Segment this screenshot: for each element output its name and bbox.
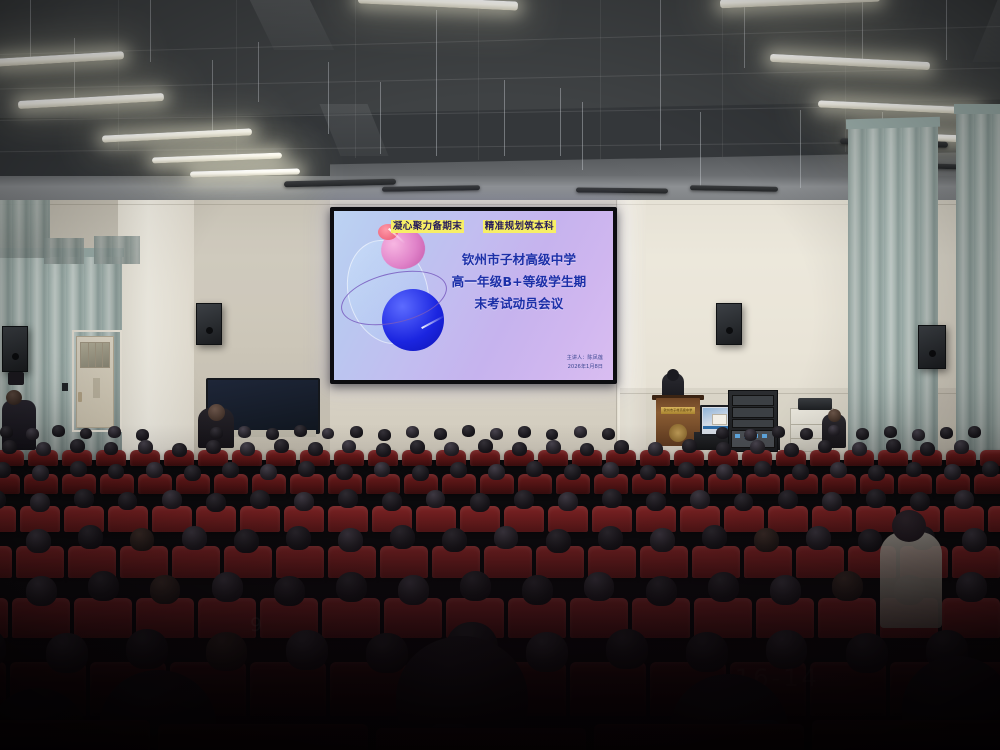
banner-left-text: 凝心聚力备期末 [391, 220, 464, 233]
front-seat [0, 720, 150, 750]
wall-speaker-left [2, 326, 28, 372]
slide-title-line1: 钦州市子材高级中学 [430, 249, 608, 271]
seat-number: 9 [250, 614, 265, 636]
standing-person-head [208, 404, 225, 421]
curtain-left-panel [44, 238, 84, 264]
wall-speaker-right-stage [716, 303, 742, 345]
front-seat [158, 724, 368, 750]
curtain-left-panel [94, 236, 140, 264]
slide-title: 钦州市子材高级中学 高一年级B+等级学生期 末考试动员会议 [430, 249, 608, 315]
av-rack-unit [732, 395, 774, 406]
slide-date: 2026年1月8日 [567, 363, 603, 372]
door-window [80, 342, 110, 368]
presenter-head [667, 369, 679, 381]
slide-title-line3: 末考试动员会议 [430, 293, 608, 315]
staff-person-head [828, 409, 841, 422]
audience-seating: 9 [0, 424, 1000, 750]
front-seat [812, 720, 1000, 750]
curtain-left-upper [0, 200, 50, 258]
white-jacket-head [892, 510, 926, 542]
curtain-right [848, 120, 938, 460]
front-seat [594, 724, 804, 750]
curtain-valance-right-outer [954, 104, 1000, 114]
av-rack-unit [732, 407, 774, 418]
curtain-right-outer [956, 108, 1000, 460]
ceiling-light-fixture [576, 188, 668, 194]
slide-title-line2: 高一年级B+等级学生期 [430, 271, 608, 293]
wall-speaker-left-stage [196, 303, 222, 345]
door-handle[interactable] [78, 392, 82, 402]
lectern-plaque-text: 钦州市子材高级中学 [661, 407, 695, 414]
slide-meta: 主讲人：陈凤莲 2026年1月8日 [567, 354, 603, 372]
presentation-screen: 凝心聚力备期末 精准规划筑本科 钦州市子材高级中学 高一年级B+等级学生期 末考… [334, 211, 613, 380]
auditorium-photo: 凝心聚力备期末 精准规划筑本科 钦州市子材高级中学 高一年级B+等级学生期 末考… [0, 0, 1000, 750]
camera-device [8, 372, 24, 385]
wall-speaker-right [918, 325, 946, 369]
slide-banner: 凝心聚力备期末 精准规划筑本科 [334, 218, 613, 232]
light-switch[interactable] [62, 383, 68, 391]
front-seat [376, 728, 586, 750]
door-panel [93, 378, 100, 398]
av-gear-on-cabinet [798, 398, 832, 410]
banner-right-text: 精准规划筑本科 [483, 220, 556, 233]
camera-person-head [6, 390, 22, 405]
slide-presenter: 主讲人：陈凤莲 [567, 354, 603, 363]
white-jacket-person [880, 532, 942, 628]
